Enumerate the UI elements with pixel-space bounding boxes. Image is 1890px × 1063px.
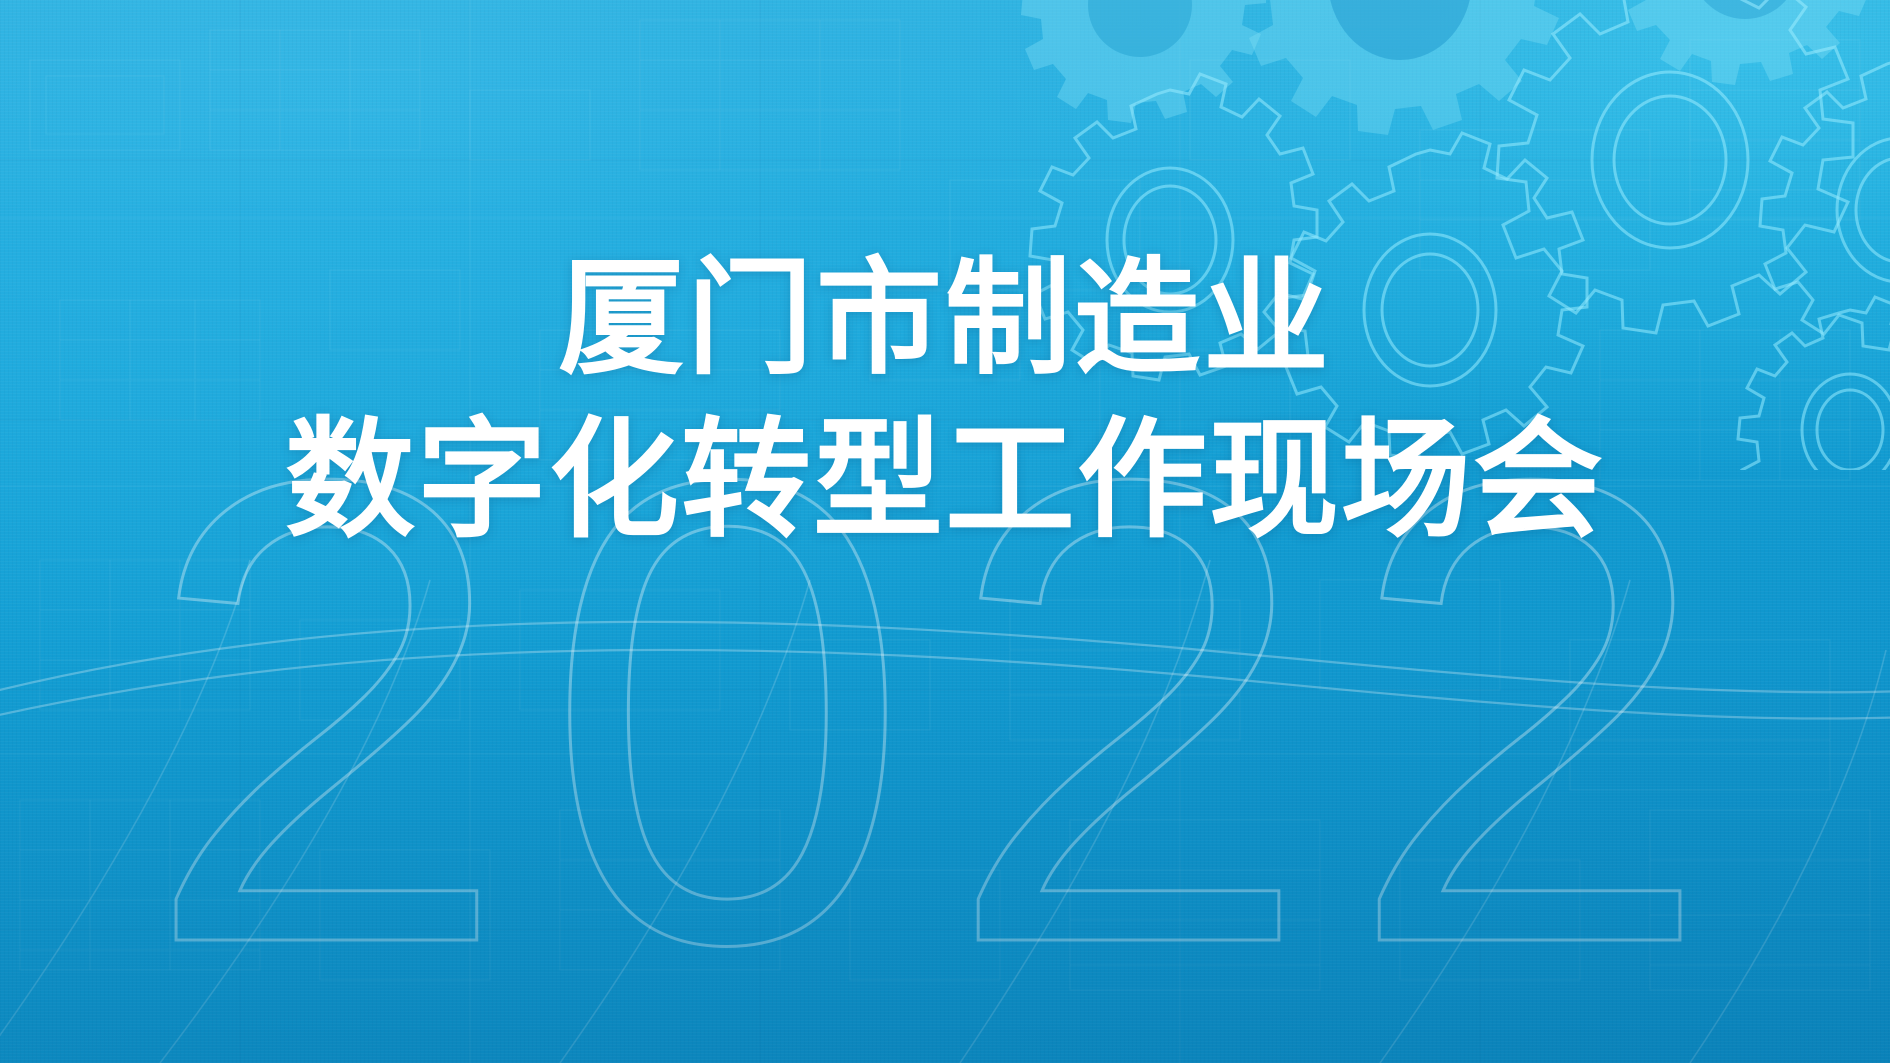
title-line-1: 厦门市制造业 xyxy=(0,252,1890,386)
title-line-2: 数字化转型工作现场会 xyxy=(0,412,1890,550)
page-title: 厦门市制造业 数字化转型工作现场会 xyxy=(0,252,1890,549)
poster-canvas: 2022 厦门市制造业 数字化转型工作现场会 xyxy=(0,0,1890,1063)
